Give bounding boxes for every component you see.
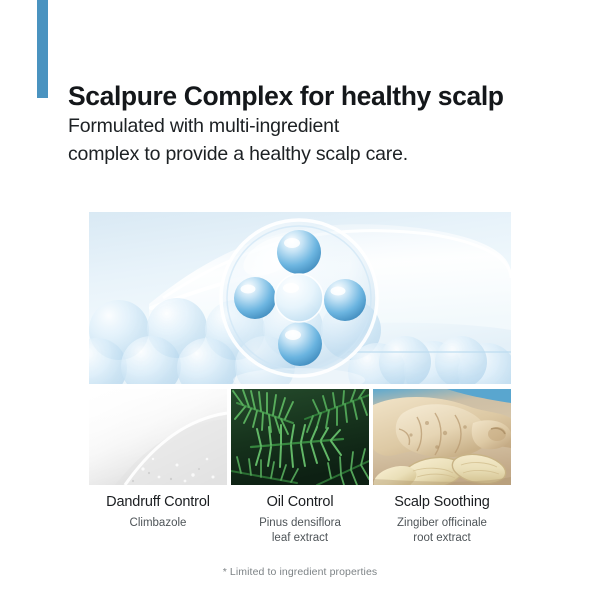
caption-title: Scalp Soothing [373,493,511,513]
molecule-complex-hero-image [89,212,511,384]
caption-title: Dandruff Control [89,493,227,513]
ginger-root-thumbnail [373,389,511,485]
caption-subtitle-line-1: Pinus densiflora [231,516,369,532]
caption-dandruff-control: Dandruff Control Climbazole [89,493,227,547]
ingredient-thumbnail-row [89,389,511,485]
vertical-accent-bar [37,0,48,98]
caption-title: Oil Control [231,493,369,513]
caption-subtitle-line-1: Zingiber officinale [373,516,511,532]
page-title: Scalpure Complex for healthy scalp [68,82,504,111]
caption-subtitle-line-1: Climbazole [89,516,227,532]
caption-subtitle-line-2: leaf extract [231,531,369,547]
caption-subtitle: Zingiber officinale root extract [373,516,511,547]
page-subtitle: Formulated with multi-ingredient complex… [68,113,408,168]
white-powder-thumbnail [89,389,227,485]
footnote-disclaimer: * Limited to ingredient properties [0,566,600,578]
caption-scalp-soothing: Scalp Soothing Zingiber officinale root … [373,493,511,547]
subtitle-line-2: complex to provide a healthy scalp care. [68,141,408,169]
caption-subtitle: Climbazole [89,516,227,532]
pine-needles-thumbnail [231,389,369,485]
caption-subtitle-line-2: root extract [373,531,511,547]
caption-subtitle: Pinus densiflora leaf extract [231,516,369,547]
subtitle-line-1: Formulated with multi-ingredient [68,113,408,141]
ingredient-caption-row: Dandruff Control Climbazole Oil Control … [89,493,511,547]
product-infographic-page: Scalpure Complex for healthy scalp Formu… [0,0,600,600]
caption-oil-control: Oil Control Pinus densiflora leaf extrac… [231,493,369,547]
